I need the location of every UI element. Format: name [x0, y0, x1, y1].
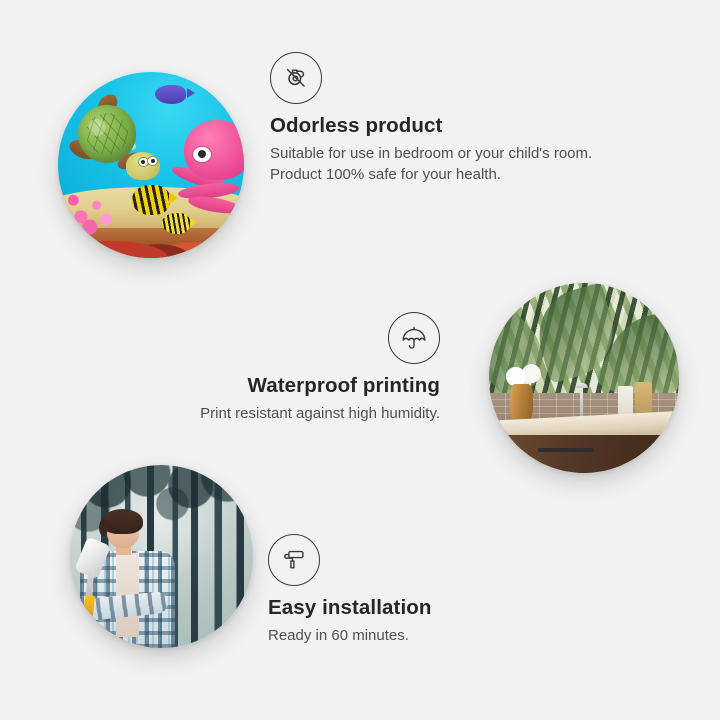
photo-installer-forest: [70, 465, 253, 648]
blue-fish-icon: [155, 85, 187, 104]
coral-icon: [62, 172, 125, 235]
octopus-eye: [192, 146, 211, 164]
feature-title: Odorless product: [270, 113, 610, 139]
umbrella-icon: [388, 312, 440, 364]
octopus-icon: [170, 120, 244, 217]
feature-description: Suitable for use in bedroom or your chil…: [270, 143, 610, 186]
sea-turtle-icon: [73, 104, 159, 182]
paint-roller-icon: [268, 534, 320, 586]
turtle-head: [126, 152, 160, 180]
turtle-eye-right: [147, 156, 158, 166]
feature-title: Easy installation: [268, 595, 588, 621]
ocean-scene: [58, 72, 244, 258]
small-striped-fish-icon: [162, 213, 190, 233]
no-odor-perfume-bottle-icon: [270, 52, 322, 104]
octopus-head: [184, 120, 244, 180]
photo-ocean-mural: [58, 72, 244, 258]
wood-vanity-cabinet: [504, 435, 679, 473]
feature-description: Ready in 60 minutes.: [268, 625, 588, 646]
feature-odorless: Odorless product Suitable for use in bed…: [270, 52, 610, 185]
feature-title: Waterproof printing: [140, 373, 440, 399]
installer-scene: [70, 465, 253, 648]
feature-install: Easy installation Ready in 60 minutes.: [268, 534, 588, 646]
feature-waterproof: Waterproof printing Print resistant agai…: [140, 312, 440, 424]
faucet-icon: [580, 388, 583, 418]
striped-fish-icon: [132, 185, 169, 215]
feature-collage: Odorless product Suitable for use in bed…: [0, 0, 720, 720]
feature-description: Print resistant against high humidity.: [140, 403, 440, 424]
photo-bathroom-wallpaper: [489, 283, 679, 473]
hair: [102, 509, 143, 534]
woman-figure: [77, 509, 190, 648]
bathroom-scene: [489, 283, 679, 473]
